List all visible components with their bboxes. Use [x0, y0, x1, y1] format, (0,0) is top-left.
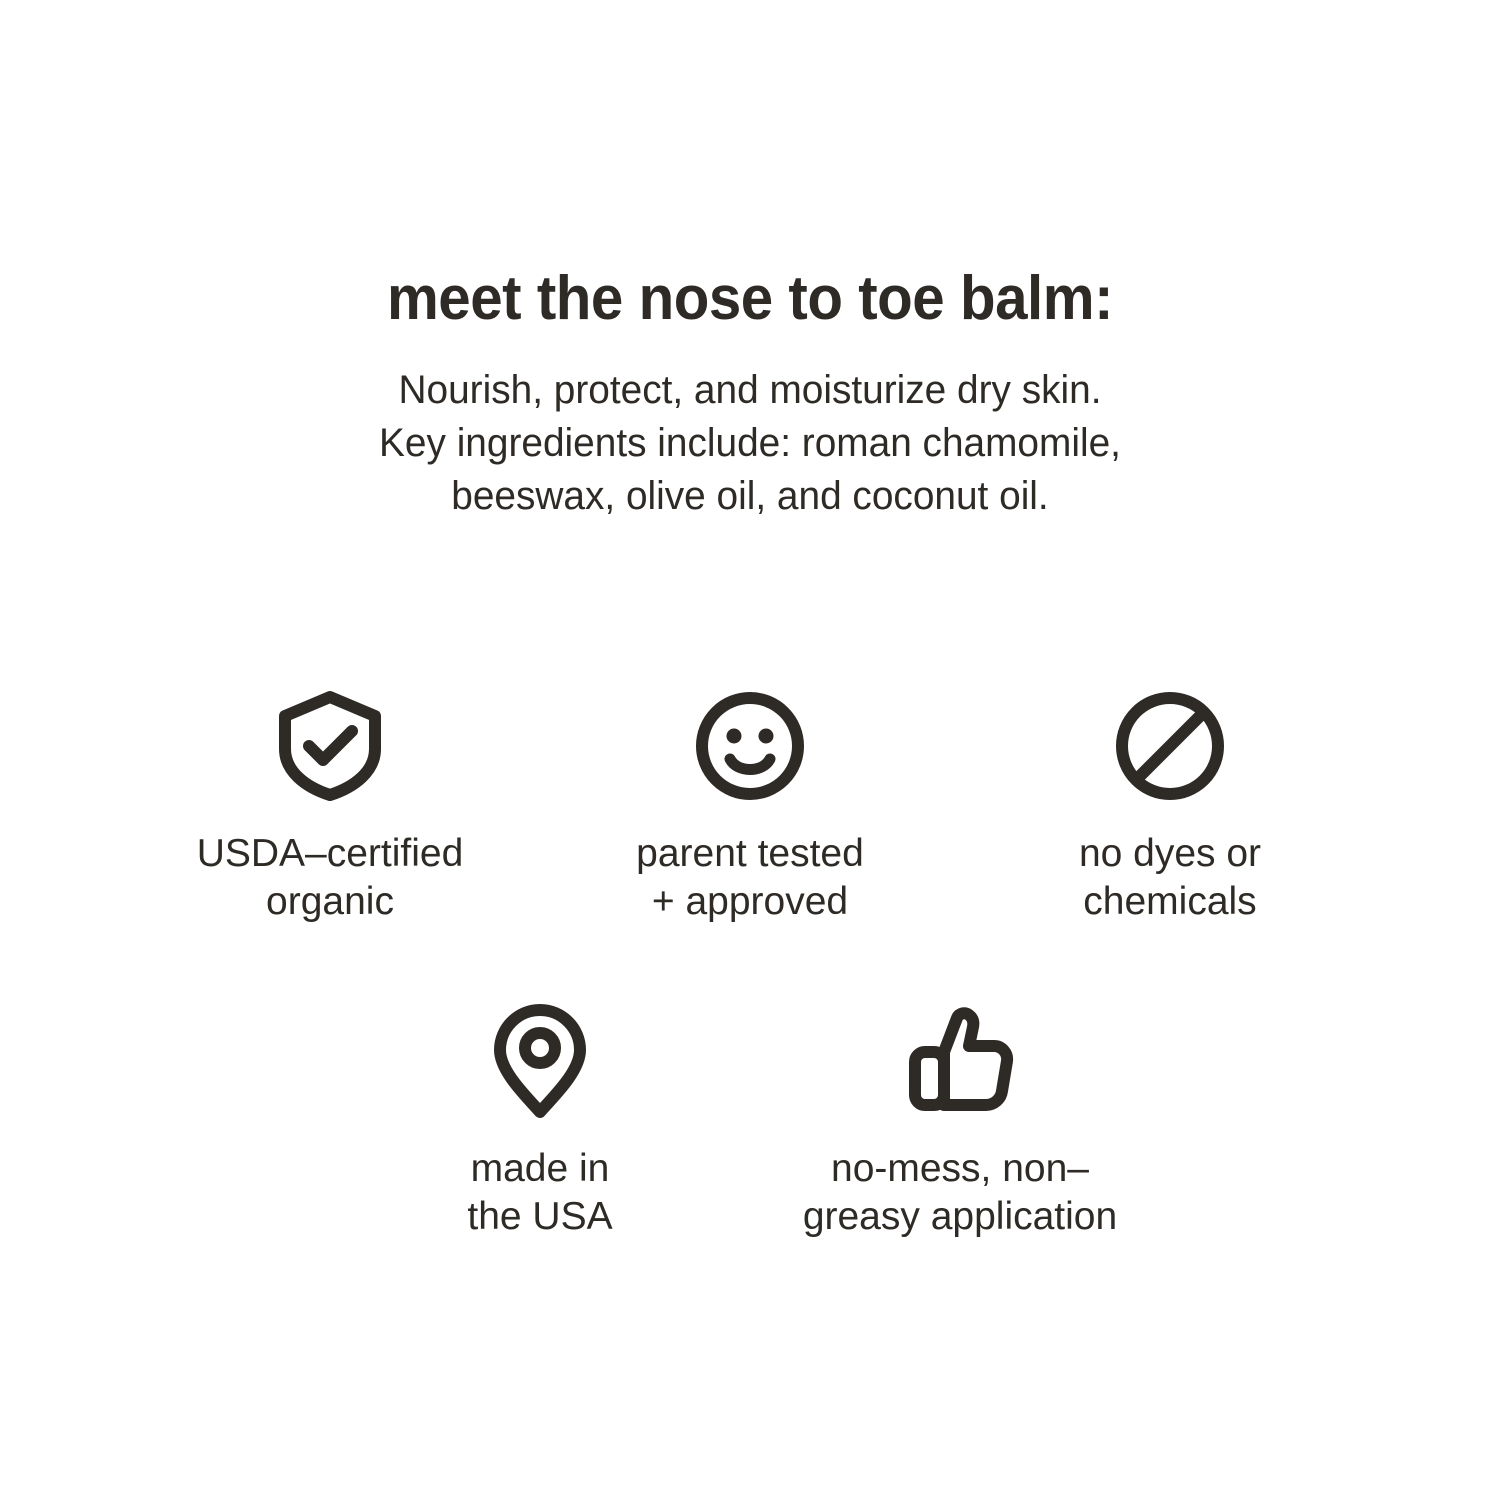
description-line-1: Nourish, protect, and moisturize dry ski… [23, 364, 1478, 417]
product-benefits-page: meet the nose to toe balm: Nourish, prot… [0, 0, 1500, 1500]
badge-label-line-1: USDA–certified [197, 830, 464, 878]
badge-label-line-2: the USA [467, 1193, 612, 1241]
badge-label-line-2: organic [197, 878, 464, 926]
product-description: Nourish, protect, and moisturize dry ski… [23, 330, 1478, 524]
thumbs-up-icon [904, 1005, 1016, 1117]
badge-made-in-the-usa: made in the USA [330, 1005, 750, 1240]
badge-label: USDA–certified organic [197, 830, 464, 925]
badge-label: made in the USA [467, 1145, 612, 1240]
badge-label-line-2: chemicals [1079, 878, 1261, 926]
description-line-3: beeswax, olive oil, and coconut oil. [23, 470, 1478, 523]
badge-label-line-2: greasy application [803, 1193, 1117, 1241]
badge-label-line-1: no dyes or [1079, 830, 1261, 878]
smiley-face-icon [695, 690, 805, 802]
badge-label-line-2: + approved [636, 878, 864, 926]
shield-check-icon [276, 690, 384, 802]
header-block: meet the nose to toe balm: Nourish, prot… [0, 268, 1500, 524]
badge-label-line-1: no-mess, non– [803, 1145, 1117, 1193]
location-pin-icon [492, 1005, 588, 1117]
prohibition-icon [1115, 690, 1225, 802]
badge-usda-certified-organic: USDA–certified organic [120, 690, 540, 925]
badge-no-dyes-or-chemicals: no dyes or chemicals [960, 690, 1380, 925]
page-title: meet the nose to toe balm: [45, 268, 1455, 330]
badge-row-2: made in the USA no-mess, non– greasy app… [0, 1005, 1500, 1240]
badge-label-line-1: parent tested [636, 830, 864, 878]
badge-label: no-mess, non– greasy application [803, 1145, 1117, 1240]
description-line-2: Key ingredients include: roman chamomile… [23, 417, 1478, 470]
badge-label-line-1: made in [467, 1145, 612, 1193]
badge-parent-tested-approved: parent tested + approved [540, 690, 960, 925]
badge-row-1: USDA–certified organic parent tested + [0, 690, 1500, 925]
benefit-badge-grid: USDA–certified organic parent tested + [0, 690, 1500, 1240]
badge-no-mess-non-greasy: no-mess, non– greasy application [750, 1005, 1170, 1240]
badge-label: parent tested + approved [636, 830, 864, 925]
badge-label: no dyes or chemicals [1079, 830, 1261, 925]
